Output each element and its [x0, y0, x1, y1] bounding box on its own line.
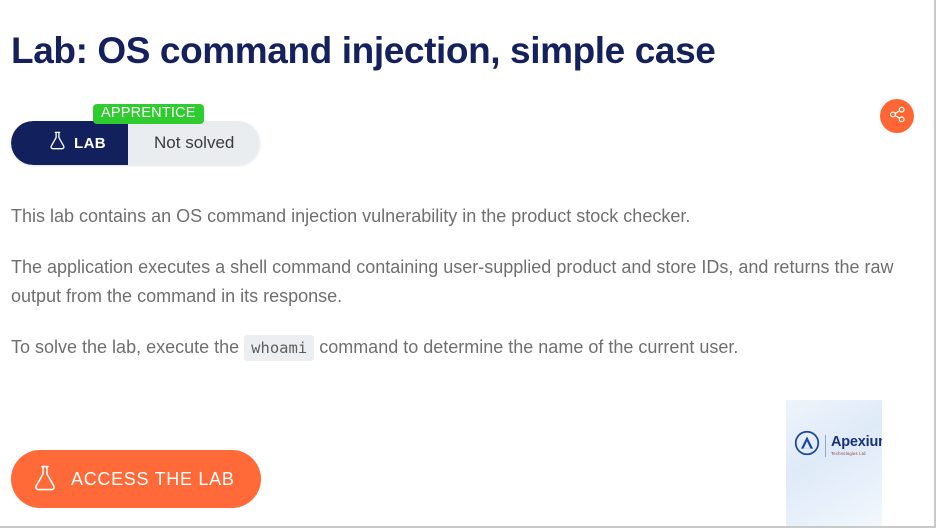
solve-suffix: command to determine the name of the cur…: [319, 337, 738, 357]
share-button[interactable]: [880, 99, 914, 133]
sponsor-logo-inner: Apexium Technologies Ltd: [794, 430, 882, 461]
difficulty-badge: APPRENTICE: [93, 104, 204, 124]
lab-pill: LAB: [11, 121, 128, 165]
description-paragraph-2: The application executes a shell command…: [11, 253, 926, 311]
flask-icon: [49, 131, 66, 155]
access-the-lab-button[interactable]: ACCESS THE LAB: [11, 450, 261, 508]
description-paragraph-1: This lab contains an OS command injectio…: [11, 202, 926, 231]
status-badge: LAB Not solved: [11, 121, 260, 165]
solve-prefix: To solve the lab, execute the: [11, 337, 239, 357]
flask-icon: [33, 464, 57, 495]
sponsor-text: Apexium Technologies Ltd: [831, 435, 882, 456]
page-title: Lab: OS command injection, simple case: [11, 30, 715, 72]
sponsor-logo: Apexium Technologies Ltd: [786, 400, 882, 528]
lab-description: This lab contains an OS command injectio…: [11, 202, 926, 385]
whoami-code-span: whoami: [244, 335, 314, 361]
apexium-logo-icon: [794, 430, 820, 461]
sponsor-divider: [825, 435, 826, 457]
lab-pill-label: LAB: [74, 135, 106, 152]
description-paragraph-3: To solve the lab, execute the whoami com…: [11, 333, 926, 362]
share-icon: [889, 106, 906, 126]
solved-status: Not solved: [128, 121, 260, 165]
access-the-lab-label: ACCESS THE LAB: [71, 469, 235, 490]
lab-page: Lab: OS command injection, simple case A…: [0, 0, 936, 528]
sponsor-name: Apexium: [831, 435, 882, 450]
sponsor-tagline: Technologies Ltd: [831, 452, 882, 456]
solved-status-label: Not solved: [154, 133, 234, 153]
